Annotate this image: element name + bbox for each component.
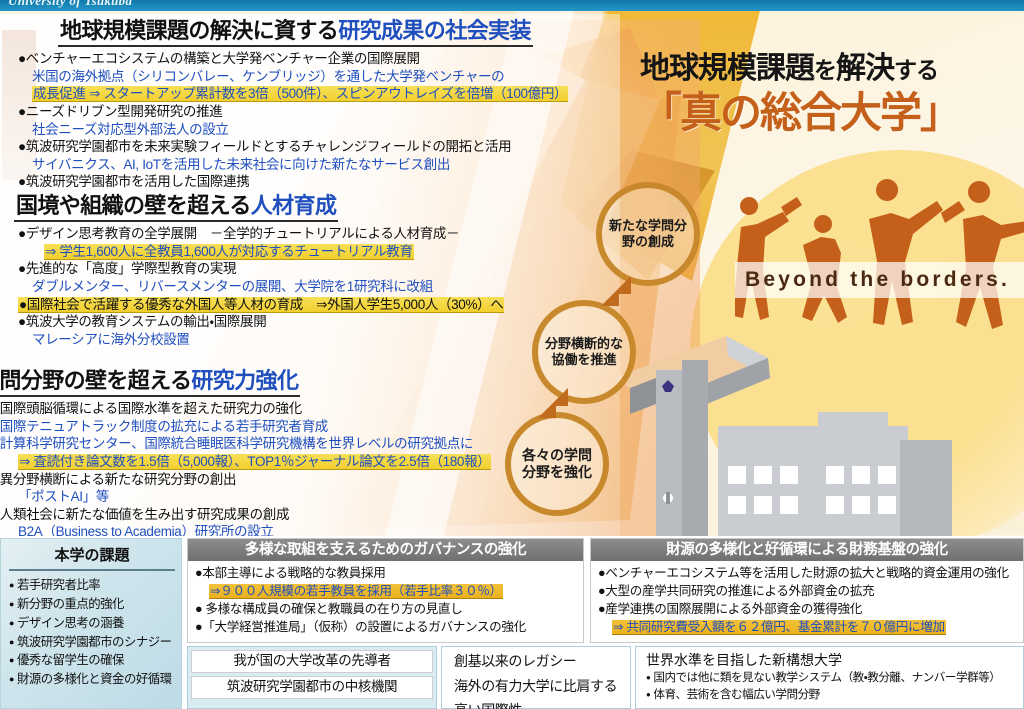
hero-line-1-verb: 解決: [836, 52, 894, 85]
list-item: 我が国の大学改革の先導者: [191, 650, 433, 673]
panel-governance: 多様な取組を支えるためのガバナンスの強化 ●本部主導による戦略的な教員採用 ⇒９…: [187, 538, 584, 643]
section-1-heading-black: 地球規模課題の解決に資する: [60, 18, 338, 43]
hero-line-1-main: 地球規模課題: [640, 52, 814, 85]
list-item: 体育、芸術を含む幅広い学問分野: [642, 687, 1017, 704]
hero-line-1-particle: を: [814, 57, 836, 83]
panel-finance: 財源の多様化と好循環による財務基盤の強化 ●ベンチャーエコシステム等を活用した財…: [590, 538, 1024, 643]
bullet-line: ●先進的な「高度」学際型教育の実現: [18, 260, 625, 278]
section-3-bullets: ●国際頭脳循環による国際水準を超えた研究力の強化 ●国際テニュアトラック制度の拡…: [0, 400, 625, 540]
section-social-implementation-heading: 地球規模課題の解決に資する研究成果の社会実装: [58, 18, 533, 47]
bullet-line: ●ベンチャーエコシステムの構築と大学発ベンチャー企業の国際展開: [18, 50, 625, 68]
bullet-line: ●国際頭脳循環による国際水準を超えた研究力の強化: [0, 400, 625, 418]
section-1-heading-blue: 研究成果の社会実装: [338, 18, 531, 43]
bullet-line: ●人類社会に新たな価値を生み出す研究成果の創成: [0, 506, 625, 524]
bullet-line-highlighted: ⇒９００人規模の若手教員を採用（若手比率３０％）: [195, 583, 579, 601]
list-item: デザイン思考の涵養: [9, 614, 175, 633]
list-item: 高い国際性: [448, 700, 624, 709]
hero-line-1: 地球規模課題を解決する: [640, 52, 1024, 85]
section-human-resource-heading: 国境や組織の壁を超える人材育成: [14, 193, 338, 222]
panel-governance-header: 多様な取組を支えるためのガバナンスの強化: [188, 539, 583, 561]
list-item: 若手研究者比率: [9, 576, 175, 595]
bullet-line: 「ポストAI」等: [0, 488, 625, 506]
bullet-line-highlighted: ⇒ 査読付き論文数を1.5倍（5,000報）、TOP1％ジャーナル論文を2.5倍…: [0, 453, 625, 471]
panel-finance-header: 財源の多様化と好循環による財務基盤の強化: [591, 539, 1023, 561]
panel-university-issues-title: 本学の課題: [9, 544, 175, 571]
campus-illustration: [600, 330, 1024, 540]
bullet-line: 社会ニーズ対応型外部法人の設立: [18, 121, 625, 139]
bullet-line: ●大型の産学共同研究の推進による外部資金の拡充: [598, 583, 1019, 601]
hero-title-block: 地球規模課題を解決する 「真の総合大学」: [640, 52, 1024, 135]
section-2-bullets: ●デザイン思考教育の全学展開 －全学的チュートリアルによる人材育成－ ⇒ 学生1…: [0, 225, 625, 348]
bullet-line: ●ニーズドリブン型開発研究の推進: [18, 103, 625, 121]
section-1-bullets: ●ベンチャーエコシステムの構築と大学発ベンチャー企業の国際展開 米国の海外拠点（…: [0, 50, 625, 190]
bullet-line: ●筑波研究学園都市を未来実験フィールドとするチャレンジフィールドの開拓と活用: [18, 138, 625, 156]
brand-wordmark: University of Tsukuba: [8, 0, 132, 9]
bullet-line: ダブルメンター、リバースメンターの展開、大学院を1研究科に改組: [18, 278, 625, 296]
bullet-line: ●「大学経営推進局」（仮称）の設置によるガバナンスの強化: [195, 619, 579, 637]
list-item: 財源の多様化と資金の好循環: [9, 670, 175, 689]
section-2-heading-blue: 人材育成: [251, 193, 337, 218]
panel-finance-body: ●ベンチャーエコシステム等を活用した財源の拡大と戦略的資金運用の強化 ●大型の産…: [591, 561, 1023, 637]
hero-line-2: 「真の総合大学」: [640, 91, 1024, 135]
campus-building: [718, 412, 952, 540]
panel-new-concept-title: 世界水準を目指した新構想大学: [642, 650, 1017, 670]
bullet-line: ● 多様な構成員の確保と教職員の在り方の見直し: [195, 601, 579, 619]
panel-university-issues: 本学の課題 若手研究者比率 新分野の重点的強化 デザイン思考の涵養 筑波研究学園…: [0, 538, 182, 709]
bullet-line-highlighted: 成長促進 ⇒ スタートアップ累計数を3倍（500件）、スピンアウトレイズを倍増（…: [18, 85, 625, 103]
bullet-line: サイバニクス、AI, IoTを活用した未来社会に向けた新たなサービス創出: [18, 156, 625, 174]
top-brand-bar: University of Tsukuba: [0, 0, 1024, 11]
bullet-line: ●国際テニュアトラック制度の拡充による若手研究者育成: [0, 418, 625, 436]
panel-reform-leader: 我が国の大学改革の先導者 筑波研究学園都市の中核機関: [187, 646, 437, 709]
list-item: 新分野の重点的強化: [9, 595, 175, 614]
section-research-heading: 学問分野の壁を超える研究力強化: [0, 368, 300, 397]
panel-new-concept-university: 世界水準を目指した新構想大学 国内では他に類を見ない教学システム（教・教分離、ナ…: [635, 646, 1024, 709]
infographic-page: University of Tsukuba 地球規模課題を解決する 「真の総合大…: [0, 0, 1024, 709]
bullet-line: マレーシアに海外分校設置: [18, 331, 625, 349]
bullet-line: ●計算科学研究センター、国際統合睡眠医科学研究機構を世界レベルの研究拠点に: [0, 435, 625, 453]
bullet-line-highlighted: ●国際社会で活躍する優秀な外国人等人材の育成 ⇒外国人学生5,000人（30%）…: [18, 296, 625, 314]
hero-line-1-suffix: する: [894, 57, 938, 83]
tagline-text: Beyond the borders.: [745, 268, 1024, 292]
bottom-panels: 本学の課題 若手研究者比率 新分野の重点的強化 デザイン思考の涵養 筑波研究学園…: [0, 536, 1024, 709]
list-item: 国内では他に類を見ない教学システム（教・教分離、ナンバー学群等）: [642, 670, 1017, 687]
section-human-resource-development: 国境や組織の壁を超える人材育成 ●デザイン思考教育の全学展開 －全学的チュートリ…: [0, 193, 625, 348]
list-item: 創基以来のレガシー: [448, 651, 624, 673]
section-3-heading-black: 学問分野の壁を超える: [0, 368, 191, 393]
section-social-implementation: 地球規模課題の解決に資する研究成果の社会実装 ●ベンチャーエコシステムの構築と大…: [0, 18, 625, 191]
panel-governance-body: ●本部主導による戦略的な教員採用 ⇒９００人規模の若手教員を採用（若手比率３０％…: [188, 561, 583, 637]
section-research-strength: 学問分野の壁を超える研究力強化 ●国際頭脳循環による国際水準を超えた研究力の強化…: [0, 368, 625, 541]
bullet-line: ●異分野横断による新たな研究分野の創出: [0, 471, 625, 489]
bullet-line: ●産学連携の国際展開による外部資金の獲得強化: [598, 601, 1019, 619]
list-item: 筑波研究学園都市のシナジー: [9, 633, 175, 652]
bullet-line: ●デザイン思考教育の全学展開 －全学的チュートリアルによる人材育成－: [18, 225, 625, 243]
bullet-line: ●筑波大学の教育システムの輸出・国際展開: [18, 313, 625, 331]
list-item: 優秀な留学生の確保: [9, 651, 175, 670]
strategy-sections: 地球規模課題の解決に資する研究成果の社会実装 ●ベンチャーエコシステムの構築と大…: [0, 12, 625, 536]
bullet-line: ●ベンチャーエコシステム等を活用した財源の拡大と戦略的資金運用の強化: [598, 565, 1019, 583]
panel-legacy: 創基以来のレガシー 海外の有力大学に比肩する 高い国際性: [441, 646, 631, 709]
bullet-line: ●本部主導による戦略的な教員採用: [195, 565, 579, 583]
section-3-heading-blue: 研究力強化: [191, 368, 298, 393]
bullet-line: ●筑波研究学園都市を活用した国際連携: [18, 173, 625, 191]
list-item: 海外の有力大学に比肩する: [448, 676, 624, 698]
bullet-line-highlighted: ⇒ 学生1,600人に全教員1,600人が対応するチュートリアル教育: [18, 243, 625, 261]
list-item: 筑波研究学園都市の中核機関: [191, 676, 433, 699]
panel-university-issues-list: 若手研究者比率 新分野の重点的強化 デザイン思考の涵養 筑波研究学園都市のシナジ…: [9, 576, 175, 689]
section-2-heading-black: 国境や組織の壁を超える: [16, 193, 251, 218]
bullet-line: 米国の海外拠点（シリコンバレー、ケンブリッジ）を通した大学発ベンチャーの: [18, 68, 625, 86]
bullet-line-highlighted: ⇒ 共同研究費受入額を６２億円、基金累計を７０億円に増加: [598, 619, 1019, 637]
